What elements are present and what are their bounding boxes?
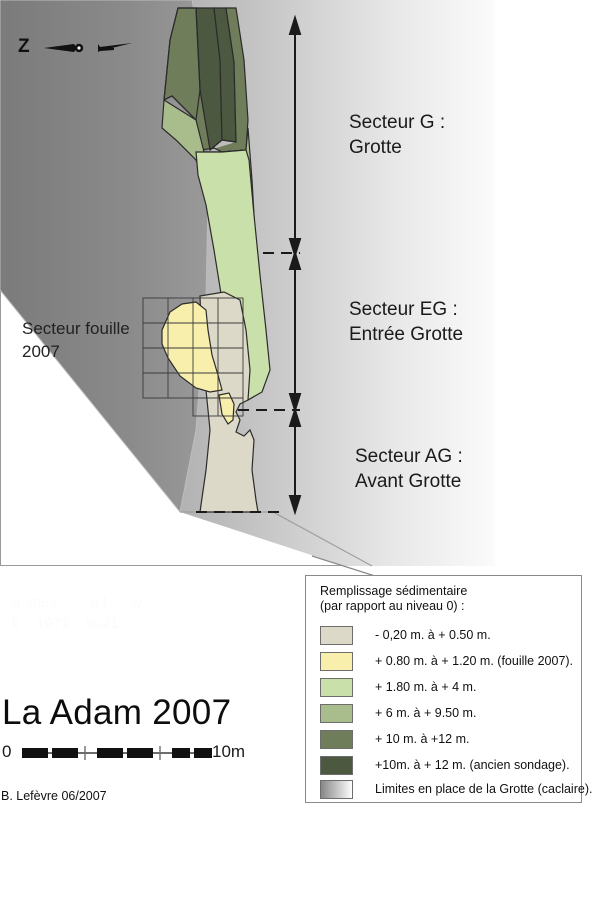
legend-panel: Remplissage sédimentaire (par rapport au… xyxy=(305,575,582,803)
legend-swatch-2 xyxy=(320,678,353,697)
legend-label-5: +10m. à + 12 m. (ancien sondage). xyxy=(375,758,570,772)
sector-label-g: Secteur G : Grotte xyxy=(349,110,445,160)
north-arrow-label: Z xyxy=(18,36,30,58)
faint-watermark-text: a mes a.l w k 1971 ts.21 xyxy=(12,592,142,634)
legend-item-5: +10m. à + 12 m. (ancien sondage). xyxy=(320,754,570,776)
legend-item-1: + 0.80 m. à + 1.20 m. (fouille 2007). xyxy=(320,650,573,672)
legend-label-0: - 0,20 m. à + 0.50 m. xyxy=(375,628,491,642)
scale-bar-start-label: 0 xyxy=(2,742,11,762)
legend-swatch-5 xyxy=(320,756,353,775)
legend-item-6: Limites en place de la Grotte (caclaire)… xyxy=(320,778,592,800)
legend-item-3: + 6 m. à + 9.50 m. xyxy=(320,702,476,724)
legend-swatch-3 xyxy=(320,704,353,723)
scale-bar xyxy=(22,746,212,760)
scale-bar-end-label: 10m xyxy=(212,742,245,762)
legend-label-3: + 6 m. à + 9.50 m. xyxy=(375,706,476,720)
excavation-annotation: Secteur fouille 2007 xyxy=(22,317,130,363)
legend-label-4: + 10 m. à +12 m. xyxy=(375,732,470,746)
legend-title: Remplissage sédimentaire (par rapport au… xyxy=(320,584,467,614)
legend-item-2: + 1.80 m. à + 4 m. xyxy=(320,676,476,698)
author-credit: B. Lefèvre 06/2007 xyxy=(1,789,107,803)
legend-item-4: + 10 m. à +12 m. xyxy=(320,728,470,750)
cave-map-page: Z Secteur G : Grotte Secteur EG : Entrée… xyxy=(0,0,611,915)
legend-item-0: - 0,20 m. à + 0.50 m. xyxy=(320,624,491,646)
legend-label-1: + 0.80 m. à + 1.20 m. (fouille 2007). xyxy=(375,654,573,668)
legend-label-2: + 1.80 m. à + 4 m. xyxy=(375,680,476,694)
legend-swatch-0 xyxy=(320,626,353,645)
sector-label-eg: Secteur EG : Entrée Grotte xyxy=(349,297,463,347)
legend-swatch-4 xyxy=(320,730,353,749)
legend-swatch-1 xyxy=(320,652,353,671)
legend-swatch-6 xyxy=(320,780,353,799)
sector-label-ag: Secteur AG : Avant Grotte xyxy=(355,444,463,494)
page-title: La Adam 2007 xyxy=(2,693,231,733)
legend-label-6: Limites en place de la Grotte (caclaire)… xyxy=(375,782,592,796)
